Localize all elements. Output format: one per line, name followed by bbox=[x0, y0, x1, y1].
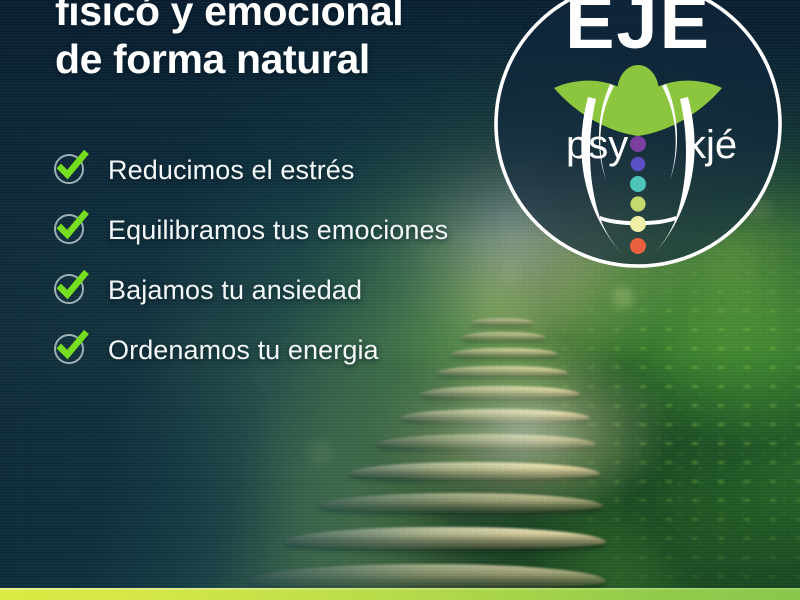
list-item: Bajamos tu ansiedad bbox=[52, 260, 448, 320]
list-item: Equilibramos tus emociones bbox=[52, 200, 448, 260]
chakra-dot-solar-plexus bbox=[630, 216, 646, 232]
headline-line-1: fisicó y emocional bbox=[55, 0, 403, 36]
promo-poster: fisicó y emocional de forma natural Redu… bbox=[0, 0, 800, 600]
chakra-dot-root bbox=[630, 238, 646, 254]
list-item: Reducimos el estrés bbox=[52, 140, 448, 200]
chakra-dot-throat bbox=[630, 176, 646, 192]
check-circle-icon bbox=[52, 331, 90, 369]
bottom-accent-bar bbox=[0, 588, 800, 600]
check-circle-icon bbox=[52, 211, 90, 249]
bottom-accent-highlight bbox=[0, 588, 800, 590]
list-item-label: Reducimos el estrés bbox=[108, 155, 355, 186]
list-item-label: Bajamos tu ansiedad bbox=[108, 275, 362, 306]
list-item-label: Ordenamos tu energia bbox=[108, 335, 379, 366]
list-item: Ordenamos tu energia bbox=[52, 320, 448, 380]
brand-logo: EJE psy kjé bbox=[492, 0, 784, 284]
logo-brand-text: EJE bbox=[565, 0, 711, 64]
benefits-checklist: Reducimos el estrés Equilibramos tus emo… bbox=[52, 140, 448, 380]
check-circle-icon bbox=[52, 271, 90, 309]
chakra-dot-crown bbox=[630, 136, 646, 152]
list-item-label: Equilibramos tus emociones bbox=[108, 215, 448, 246]
check-circle-icon bbox=[52, 151, 90, 189]
logo-word-right: kjé bbox=[686, 123, 737, 167]
headline-line-2: de forma natural bbox=[55, 36, 403, 84]
logo-word-left: psy bbox=[566, 123, 628, 167]
chakra-dot-heart bbox=[630, 196, 645, 211]
headline: fisicó y emocional de forma natural bbox=[55, 0, 403, 83]
chakra-dot-third-eye bbox=[631, 157, 645, 171]
